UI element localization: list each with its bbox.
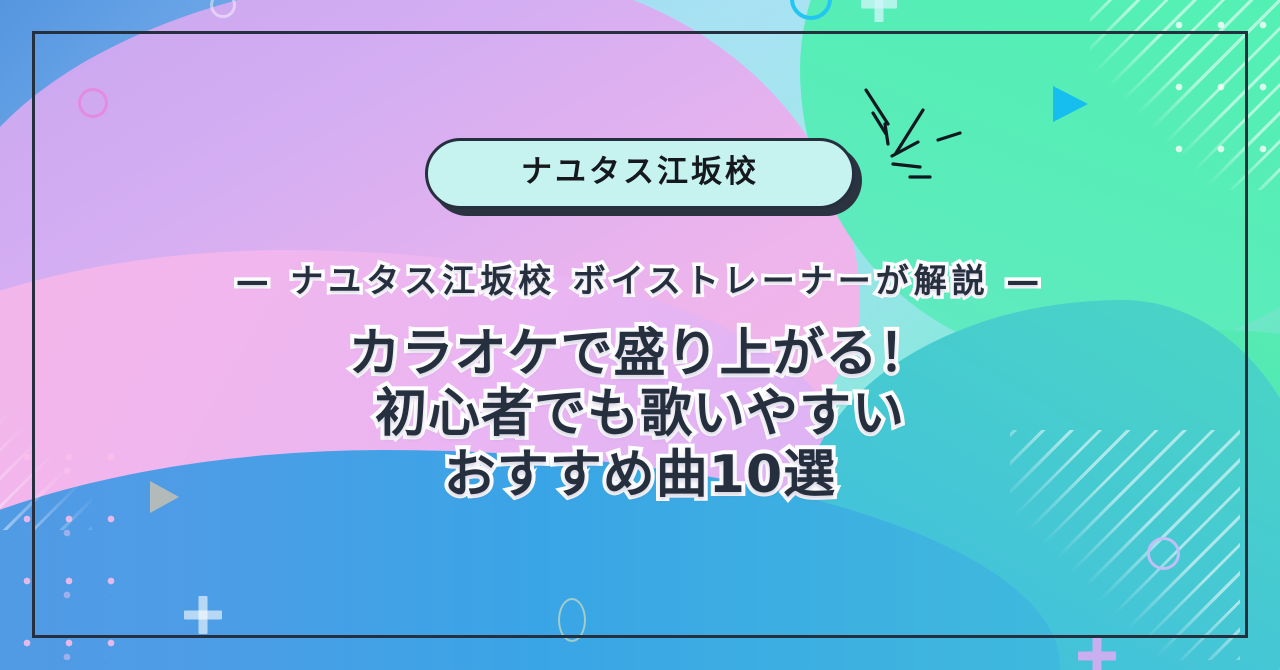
content-stack: ナユタス江坂校 — ナユタス江坂校 ボイストレーナーが解説 — カラオケで盛り上… <box>0 0 1280 670</box>
school-badge: ナユタス江坂校 <box>425 138 855 209</box>
badge-label: ナユタス江坂校 <box>502 155 778 189</box>
badge-pill: ナユタス江坂校 <box>425 138 855 209</box>
title-line-2: 初心者でも歌いやすい <box>348 384 931 444</box>
title-line-3: おすすめ曲10選 <box>348 445 931 505</box>
banner-canvas: ナユタス江坂校 — ナユタス江坂校 ボイストレーナーが解説 — カラオケで盛り上… <box>0 0 1280 670</box>
subtitle: — ナユタス江坂校 ボイストレーナーが解説 — <box>236 254 1044 302</box>
title-line-1: カラオケで盛り上がる！ <box>348 324 931 384</box>
sparkle-burst-icon <box>838 80 968 200</box>
page-title: カラオケで盛り上がる！ 初心者でも歌いやすい おすすめ曲10選 <box>348 324 931 505</box>
